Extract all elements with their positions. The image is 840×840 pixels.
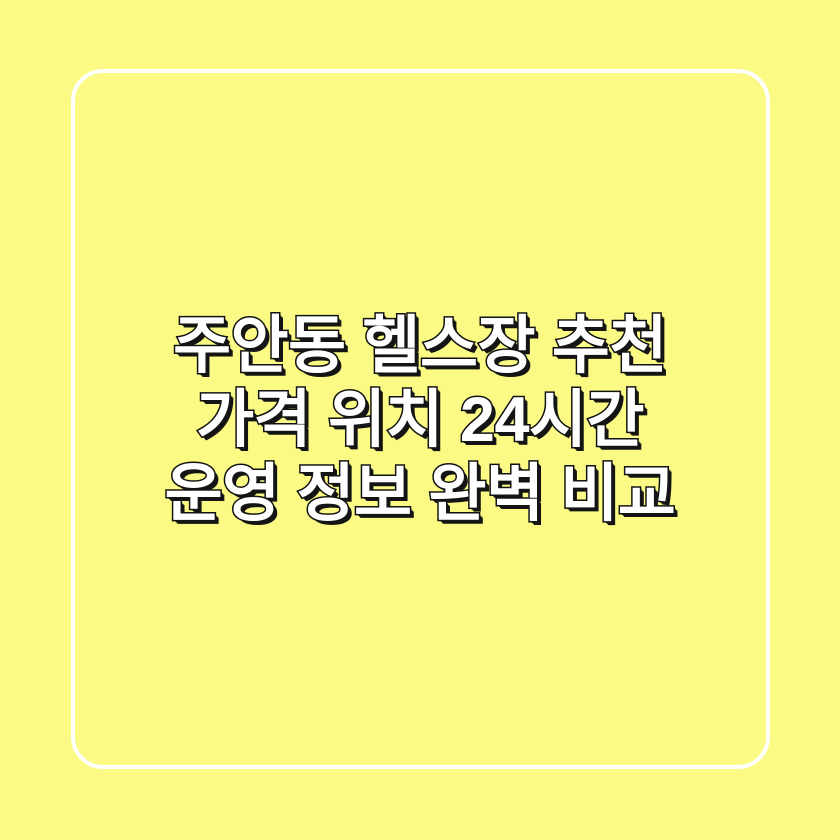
headline-block: 주안동 헬스장 추천 가격 위치 24시간 운영 정보 완벽 비교 [0,0,840,840]
headline-line-3: 운영 정보 완벽 비교 [0,457,840,531]
thumbnail-canvas: 주안동 헬스장 추천 가격 위치 24시간 운영 정보 완벽 비교 [0,0,840,840]
headline-line-1: 주안동 헬스장 추천 [0,309,840,383]
headline-line-2: 가격 위치 24시간 [0,383,840,457]
